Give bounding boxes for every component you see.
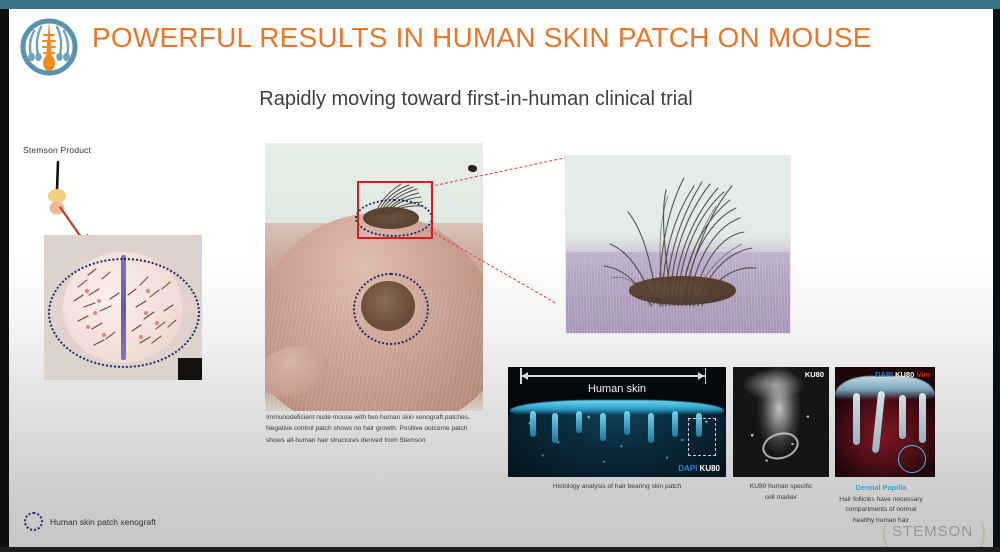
histology-caption-3-line1: Hair follicles have necessary bbox=[839, 496, 923, 503]
slide-subtitle-text: Rapidly moving toward first-in-human cli… bbox=[259, 88, 693, 111]
stain-legend-panel1: DAPI KU80 bbox=[678, 464, 720, 473]
histology-caption-2: KU80 human specific cell marker bbox=[733, 482, 829, 503]
follicle-structure bbox=[624, 411, 630, 435]
stemson-product-label: Stemson Product bbox=[23, 145, 91, 155]
top-accent-bar bbox=[0, 0, 1000, 9]
zoom-region-box bbox=[357, 181, 433, 239]
patch-photo-corner bbox=[178, 358, 202, 380]
slide-title: POWERFUL RESULTS IN HUMAN SKIN PATCH ON … bbox=[92, 22, 972, 54]
slide-canvas: POWERFUL RESULTS IN HUMAN SKIN PATCH ON … bbox=[0, 0, 1000, 552]
follicle-structure bbox=[552, 413, 558, 443]
follicle-structure bbox=[919, 393, 926, 443]
stain-label-ku80: KU80 bbox=[700, 464, 720, 473]
stain-label-vim: Vim bbox=[916, 370, 930, 379]
follicle-structure bbox=[853, 393, 860, 445]
stemson-watermark: STEMSON bbox=[878, 521, 986, 549]
histology-caption-3: Dermal Papilla Hair follicles have neces… bbox=[827, 482, 935, 526]
histology-caption-1: Histology analysis of hair bearing skin … bbox=[508, 482, 726, 493]
legend-label: Human skin patch xenograft bbox=[50, 517, 156, 527]
human-skin-scale-label: Human skin bbox=[508, 383, 726, 395]
histology-caption-3-line2: compartments of normal bbox=[845, 506, 916, 513]
histology-panel-ku80: KU80 bbox=[733, 367, 829, 477]
follicle-structure bbox=[530, 411, 536, 437]
xenograft-outline-left bbox=[48, 258, 200, 368]
follicle-structure bbox=[672, 411, 678, 437]
mouse-photo bbox=[265, 143, 483, 411]
follicle-structure bbox=[576, 411, 582, 433]
xenograft-outline-lower bbox=[353, 273, 429, 345]
closeup-hair-strands bbox=[566, 156, 790, 333]
watermark-brand: STEMSON bbox=[892, 523, 973, 540]
stain-label-ku80: KU80 bbox=[805, 370, 824, 379]
stain-label-ku80: KU80 bbox=[895, 370, 914, 379]
legend: Human skin patch xenograft bbox=[24, 512, 156, 531]
follicle-structure bbox=[899, 395, 906, 439]
histology-panel-group: Human skin DAPI KU80 KU80 DAPI KU80 Vim bbox=[508, 367, 935, 477]
histology-caption-2-line1: KU80 human specific bbox=[750, 483, 812, 490]
dermal-papilla-highlight-circle bbox=[898, 445, 926, 473]
stemson-logo-icon bbox=[12, 13, 86, 85]
xenograft-marker-icon bbox=[24, 512, 43, 531]
dermal-papilla-title: Dermal Papilla bbox=[827, 482, 935, 494]
ku80-grayscale-image bbox=[733, 367, 829, 477]
follicle-structure bbox=[600, 413, 606, 441]
follicle-structure bbox=[648, 413, 654, 443]
region-dashed-box bbox=[688, 418, 716, 456]
scale-bar bbox=[520, 375, 706, 377]
hair-closeup-photo bbox=[565, 155, 791, 334]
stain-label-dapi: DAPI bbox=[678, 464, 697, 473]
histology-panel-skin: Human skin DAPI KU80 bbox=[508, 367, 726, 477]
histology-caption-2-line2: cell marker bbox=[765, 494, 797, 501]
stain-label-dapi: DAPI bbox=[875, 370, 893, 379]
mouse-photo-caption: Immunodeficient nude mouse with two huma… bbox=[266, 412, 480, 446]
stain-legend-panel3: DAPI KU80 Vim bbox=[875, 370, 930, 379]
epidermis-layer bbox=[510, 400, 724, 415]
slide-subtitle: Rapidly moving toward first-in-human cli… bbox=[0, 88, 1000, 111]
bottom-frame-edge bbox=[0, 547, 1000, 552]
histology-panel-vim: DAPI KU80 Vim bbox=[835, 367, 935, 477]
